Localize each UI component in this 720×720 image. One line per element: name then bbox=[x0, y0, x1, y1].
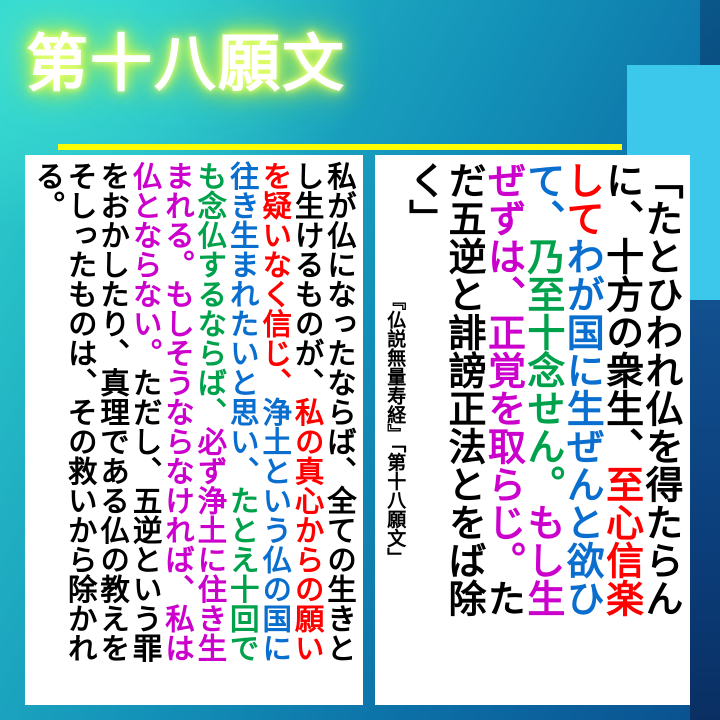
source-citation: 『仏説無量寿経』「第十八願文」 bbox=[381, 161, 404, 705]
text-segment: て、 bbox=[521, 161, 566, 237]
translation-panel: 私が仏になったならば、全ての生きとし生けるものが、私の真心からの願いを疑いなく信… bbox=[25, 155, 363, 705]
text-segment: ぜずは、正覚を取らじ。 bbox=[481, 161, 526, 579]
text-column: く」 bbox=[404, 161, 443, 699]
page-title: 第十八願文 bbox=[26, 31, 346, 96]
text-segment: 私の真心からの願い bbox=[291, 397, 326, 663]
text-column: を疑いなく信じ、浄土という仏の国に bbox=[258, 161, 290, 699]
text-segment: 必ず浄土に住き生 bbox=[193, 427, 228, 663]
text-column: 仏とならない。ただし、五逆という罪 bbox=[128, 161, 160, 699]
text-segment: 至心信楽 bbox=[600, 465, 645, 617]
original-text-panel: 「たとひわれ仏を得たらんに、十方の衆生、至心信楽してわが国に生ぜんと欲ひて、乃至… bbox=[375, 155, 690, 705]
text-segment: ただし、五逆という罪 bbox=[129, 368, 164, 663]
text-segment: そしったものは、その救いから除かれ bbox=[64, 161, 99, 663]
text-segment: 往き生まれたいと思い、 bbox=[226, 161, 261, 486]
text-segment: 私が仏になったならば、全ての生きと bbox=[323, 161, 358, 663]
text-column: も念仏するならば、必ず浄土に住き生 bbox=[193, 161, 225, 699]
text-column: してわが国に生ぜんと欲ひ bbox=[562, 161, 601, 699]
text-segment: 仏とならない。 bbox=[129, 161, 164, 368]
text-segment: をおかしたり、真理である仏の教えを bbox=[96, 161, 131, 663]
text-column: だ五逆と誹謗正法とをば除 bbox=[444, 161, 483, 699]
text-column: る。 bbox=[31, 161, 63, 699]
text-segment: く」 bbox=[403, 161, 448, 237]
text-segment: たとえ十回で bbox=[226, 486, 261, 663]
text-segment: に、十方の衆生、 bbox=[600, 161, 645, 465]
text-column: ぜずは、正覚を取らじ。た bbox=[483, 161, 522, 699]
text-column: 私が仏になったならば、全ての生きと bbox=[323, 161, 355, 699]
text-column: 「たとひわれ仏を得たらん bbox=[641, 161, 680, 699]
text-segment: だ五逆と誹謗正法とをば除 bbox=[442, 161, 487, 617]
text-segment: 浄土という仏の国に bbox=[258, 397, 293, 663]
text-column: まれる。もしそうならなければ、私は bbox=[161, 161, 193, 699]
decorative-dark-blue-band bbox=[690, 300, 720, 720]
text-segment: る。 bbox=[31, 161, 66, 220]
text-column: て、乃至十念せん。もし生 bbox=[522, 161, 561, 699]
text-segment: 乃至十念せん。 bbox=[521, 237, 566, 503]
text-segment: し生けるものが、 bbox=[291, 161, 326, 397]
text-column: し生けるものが、私の真心からの願い bbox=[290, 161, 322, 699]
text-column: に、十方の衆生、至心信楽 bbox=[601, 161, 640, 699]
text-segment: 「たとひわれ仏を得たらん bbox=[639, 161, 684, 617]
title-underline-rule bbox=[58, 144, 622, 150]
text-segment: わが国に生ぜんと欲ひ bbox=[560, 237, 605, 617]
text-segment: して bbox=[560, 161, 605, 237]
text-segment: を疑いなく信じ、 bbox=[258, 161, 293, 397]
text-column: そしったものは、その救いから除かれ bbox=[63, 161, 95, 699]
text-segment: まれる。もしそうならなければ、私は bbox=[161, 161, 196, 663]
text-segment: た bbox=[481, 579, 526, 617]
slide-canvas: 第十八願文 私が仏になったならば、全ての生きとし生けるものが、私の真心からの願い… bbox=[0, 0, 720, 720]
text-column: 往き生まれたいと思い、たとえ十回で bbox=[225, 161, 257, 699]
decorative-cyan-block-lower bbox=[690, 220, 720, 300]
text-segment: も念仏するならば、 bbox=[193, 161, 228, 427]
text-column: をおかしたり、真理である仏の教えを bbox=[96, 161, 128, 699]
text-segment: もし生 bbox=[521, 503, 566, 617]
